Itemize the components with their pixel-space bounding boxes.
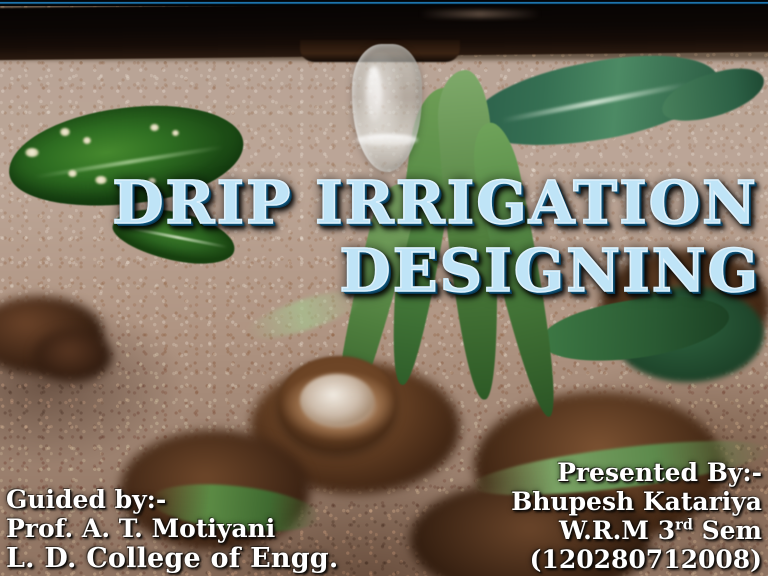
presenter-name: Bhupesh Katariya bbox=[511, 487, 762, 516]
branch-suffix: Sem bbox=[693, 516, 762, 545]
droplet-highlight bbox=[366, 66, 382, 122]
guided-by-label: Guided by:- bbox=[6, 485, 338, 514]
top-blue-strip bbox=[0, 0, 768, 6]
branch-prefix: W.R.M bbox=[559, 516, 658, 545]
droplet-highlight bbox=[356, 134, 418, 146]
soil-clump bbox=[34, 330, 112, 382]
leaf-speckle bbox=[172, 130, 179, 136]
leaf-speckle bbox=[25, 148, 39, 157]
presentation-title-slide: DRIP IRRIGATION DESIGNING Guided by:- Pr… bbox=[0, 0, 768, 576]
leaf-speckle bbox=[150, 124, 159, 131]
guide-name: Prof. A. T. Motiyani bbox=[6, 514, 338, 543]
pipe-highlight bbox=[420, 10, 540, 18]
title-line-1: DRIP IRRIGATION bbox=[0, 176, 760, 230]
enrollment-number: (120280712008) bbox=[511, 545, 762, 574]
presented-by-label: Presented By:- bbox=[511, 458, 762, 487]
presented-by-block: Presented By:- Bhupesh Katariya W.R.M 3r… bbox=[511, 458, 762, 574]
institute-name: L. D. College of Engg. bbox=[6, 543, 338, 574]
hollow-pebble-interior bbox=[300, 374, 374, 426]
leaf-speckle bbox=[60, 128, 70, 136]
page-title: DRIP IRRIGATION DESIGNING bbox=[0, 176, 760, 299]
semester-number: 3 bbox=[658, 516, 675, 545]
guided-by-block: Guided by:- Prof. A. T. Motiyani L. D. C… bbox=[6, 485, 338, 574]
presenter-branch-semester: W.R.M 3rd Sem bbox=[511, 516, 762, 545]
leaf-speckle bbox=[83, 137, 91, 144]
semester-ordinal: rd bbox=[675, 517, 693, 534]
title-line-2: DESIGNING bbox=[0, 244, 760, 298]
